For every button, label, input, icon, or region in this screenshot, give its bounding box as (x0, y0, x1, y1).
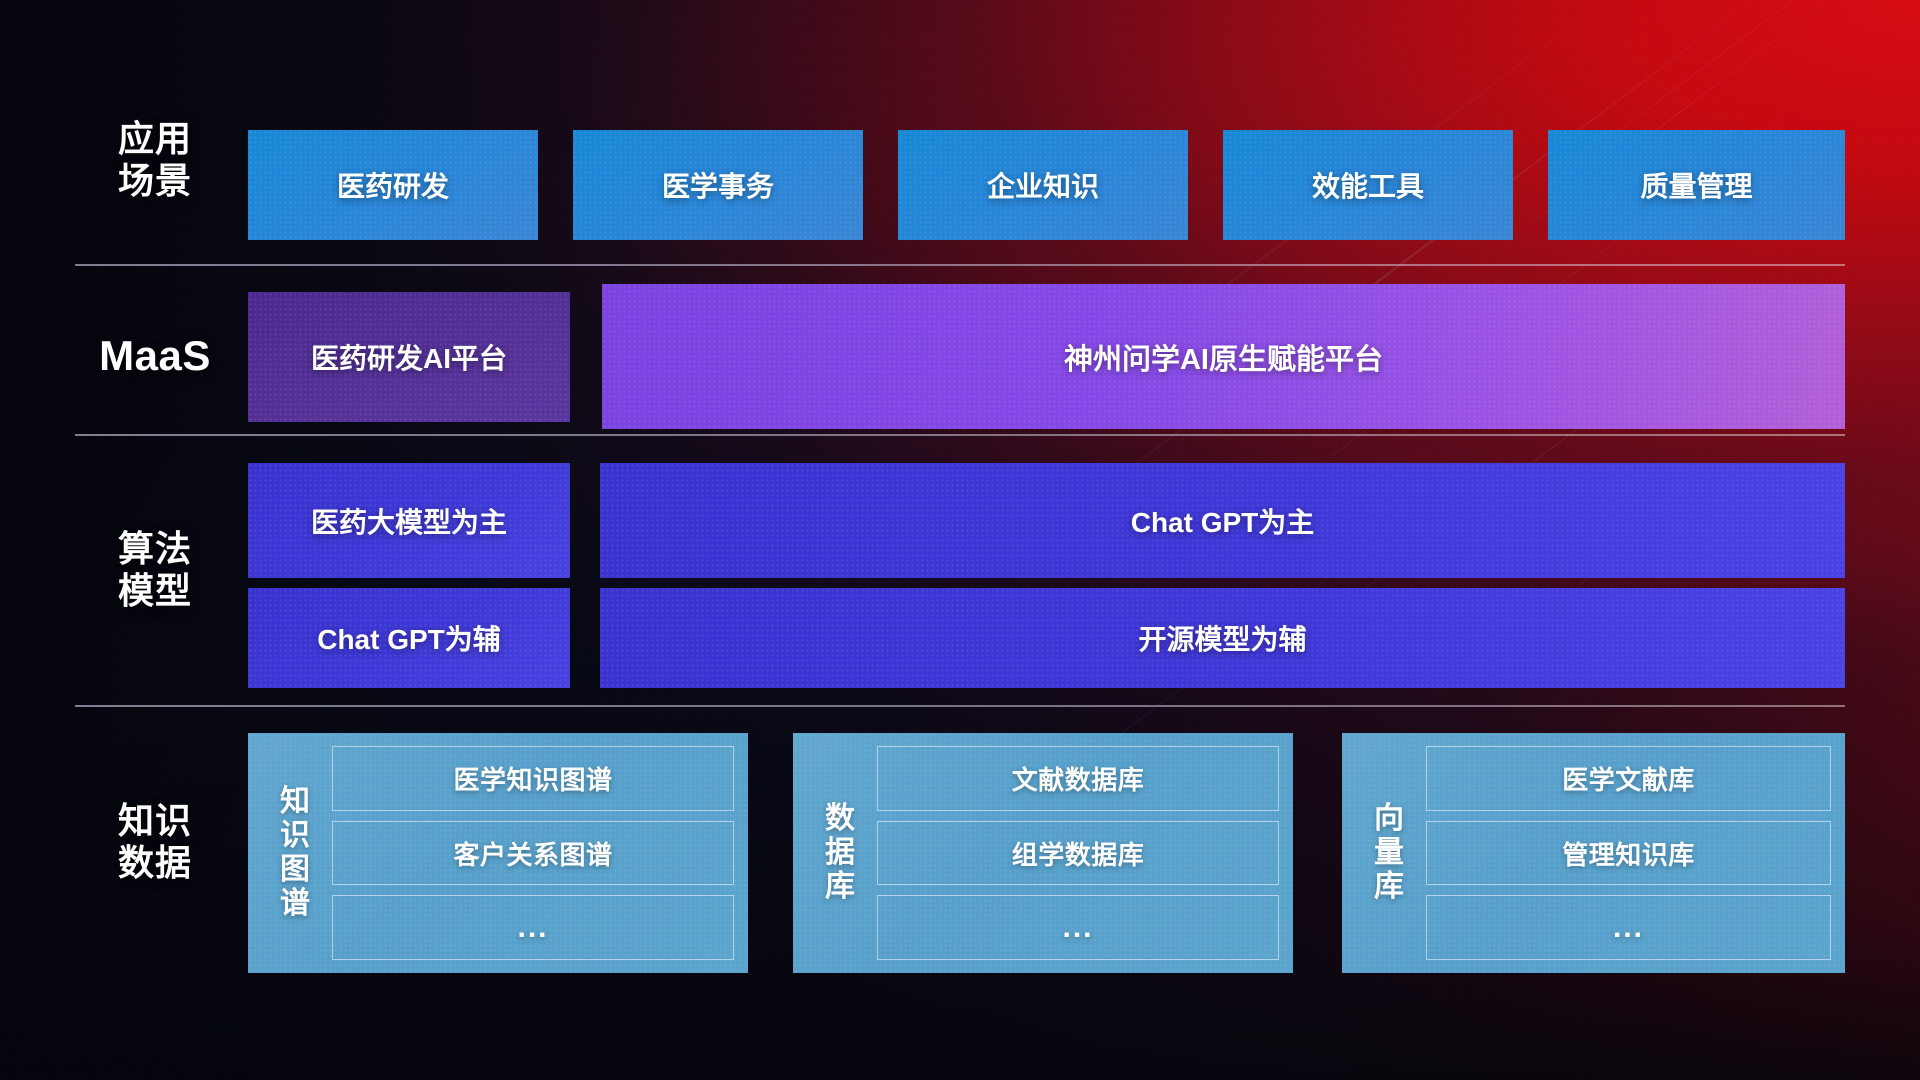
algo-box-opensource-secondary[interactable]: 开源模型为辅 (600, 588, 1845, 688)
knowledge-item-customer-kg[interactable]: 客户关系图谱 (332, 821, 734, 886)
row-label-maas: MaaS (75, 332, 235, 381)
app-box-drug-rd[interactable]: 医药研发 (248, 130, 538, 240)
knowledge-item-omics-db[interactable]: 组学数据库 (877, 821, 1279, 886)
row-label-knowledge: 知识 数据 (75, 800, 235, 884)
algo-box-opensource-secondary-label: 开源模型为辅 (1138, 618, 1306, 658)
row-label-application-line2: 场景 (75, 160, 235, 202)
app-box-medical-affairs[interactable]: 医学事务 (573, 130, 863, 240)
row-label-application-line1: 应用 (75, 118, 235, 160)
knowledge-item-medical-kg[interactable]: 医学知识图谱 (332, 746, 734, 811)
algo-box-chatgpt-secondary[interactable]: Chat GPT为辅 (248, 588, 570, 688)
knowledge-item-graph-more[interactable]: ... (332, 895, 734, 960)
row-label-knowledge-line2: 数据 (75, 842, 235, 884)
row-label-maas-text: MaaS (75, 332, 235, 381)
knowledge-group-database-title: 数据库 (805, 802, 877, 904)
divider-application-maas (75, 264, 1845, 266)
maas-box-shenzhou-wenxue-platform[interactable]: 神州问学AI原生赋能平台 (602, 284, 1845, 429)
app-box-efficiency-tools[interactable]: 效能工具 (1223, 130, 1513, 240)
knowledge-item-literature-db[interactable]: 文献数据库 (877, 746, 1279, 811)
architecture-diagram: 应用 场景 医药研发 医学事务 企业知识 效能工具 质量管理 MaaS 医药研发… (0, 0, 1920, 1080)
app-box-enterprise-knowledge-label: 企业知识 (987, 165, 1099, 205)
algo-box-pharma-llm-primary-label: 医药大模型为主 (311, 501, 507, 541)
knowledge-group-graph[interactable]: 知识图谱 医学知识图谱 客户关系图谱 ... (248, 733, 748, 973)
app-box-drug-rd-label: 医药研发 (337, 165, 449, 205)
knowledge-group-vector-store[interactable]: 向量库 医学文献库 管理知识库 ... (1342, 733, 1845, 973)
algo-box-chatgpt-secondary-label: Chat GPT为辅 (317, 618, 501, 658)
knowledge-group-database-items: 文献数据库 组学数据库 ... (877, 746, 1279, 960)
knowledge-group-vector-store-title: 向量库 (1354, 802, 1426, 904)
row-label-algorithm-line2: 模型 (75, 570, 235, 612)
knowledge-item-management-kb[interactable]: 管理知识库 (1426, 821, 1831, 886)
app-box-efficiency-tools-label: 效能工具 (1312, 165, 1424, 205)
divider-algorithm-knowledge (75, 705, 1845, 707)
knowledge-group-graph-items: 医学知识图谱 客户关系图谱 ... (332, 746, 734, 960)
knowledge-group-graph-title: 知识图谱 (260, 785, 332, 921)
algo-box-chatgpt-primary[interactable]: Chat GPT为主 (600, 463, 1845, 578)
knowledge-item-database-more[interactable]: ... (877, 895, 1279, 960)
knowledge-item-vector-more[interactable]: ... (1426, 895, 1831, 960)
maas-box-drug-rd-ai-platform[interactable]: 医药研发AI平台 (248, 292, 570, 422)
row-label-algorithm: 算法 模型 (75, 528, 235, 612)
app-box-quality-management-label: 质量管理 (1640, 165, 1752, 205)
algo-box-chatgpt-primary-label: Chat GPT为主 (1131, 501, 1315, 541)
app-box-quality-management[interactable]: 质量管理 (1548, 130, 1845, 240)
knowledge-group-database[interactable]: 数据库 文献数据库 组学数据库 ... (793, 733, 1293, 973)
maas-box-drug-rd-ai-platform-label: 医药研发AI平台 (311, 337, 507, 377)
app-box-medical-affairs-label: 医学事务 (662, 165, 774, 205)
row-label-knowledge-line1: 知识 (75, 800, 235, 842)
algo-box-pharma-llm-primary[interactable]: 医药大模型为主 (248, 463, 570, 578)
maas-box-shenzhou-wenxue-platform-label: 神州问学AI原生赋能平台 (1064, 336, 1383, 378)
knowledge-item-medical-literature[interactable]: 医学文献库 (1426, 746, 1831, 811)
app-box-enterprise-knowledge[interactable]: 企业知识 (898, 130, 1188, 240)
row-label-application: 应用 场景 (75, 118, 235, 202)
knowledge-group-vector-store-items: 医学文献库 管理知识库 ... (1426, 746, 1831, 960)
divider-maas-algorithm (75, 434, 1845, 436)
row-label-algorithm-line1: 算法 (75, 528, 235, 570)
slide-canvas: 应用 场景 医药研发 医学事务 企业知识 效能工具 质量管理 MaaS 医药研发… (0, 0, 1920, 1080)
